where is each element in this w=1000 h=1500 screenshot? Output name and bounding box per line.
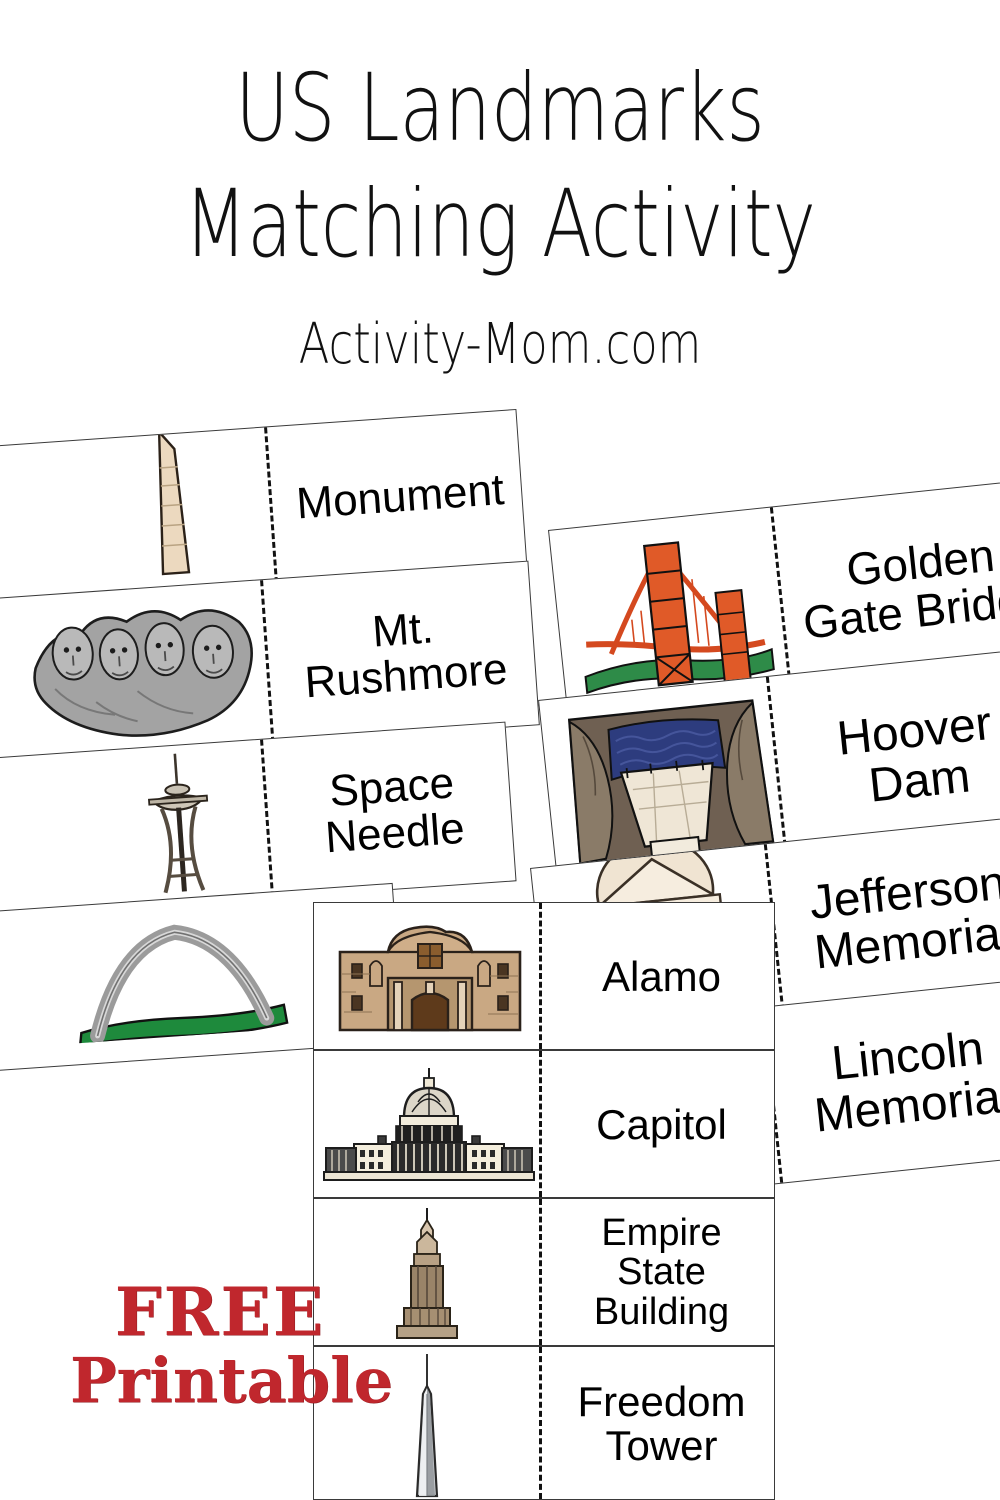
card-label: Freedom Tower [547, 1347, 775, 1500]
free-label: FREE [70, 1280, 370, 1345]
alamo-icon [324, 917, 536, 1037]
empire-state-building-icon [372, 1205, 482, 1341]
printable-poster: US Landmarks Matching Activity Activity-… [0, 0, 1000, 1500]
card-fold-line [539, 1199, 542, 1345]
card-capitol[interactable]: Capitol [313, 1050, 775, 1198]
us-capitol-icon [318, 1065, 540, 1187]
card-label: Alamo [547, 903, 775, 1050]
printable-label: Printable [70, 1351, 370, 1412]
card-label: Empire State Building [547, 1199, 775, 1346]
card-label: Capitol [547, 1051, 775, 1198]
free-printable-badge: FREE Printable [70, 1280, 370, 1411]
card-empire-state-building[interactable]: Empire State Building [313, 1198, 775, 1346]
card-fold-line [539, 1347, 542, 1499]
card-fold-line [539, 903, 542, 1049]
card-alamo[interactable]: Alamo [313, 902, 775, 1050]
